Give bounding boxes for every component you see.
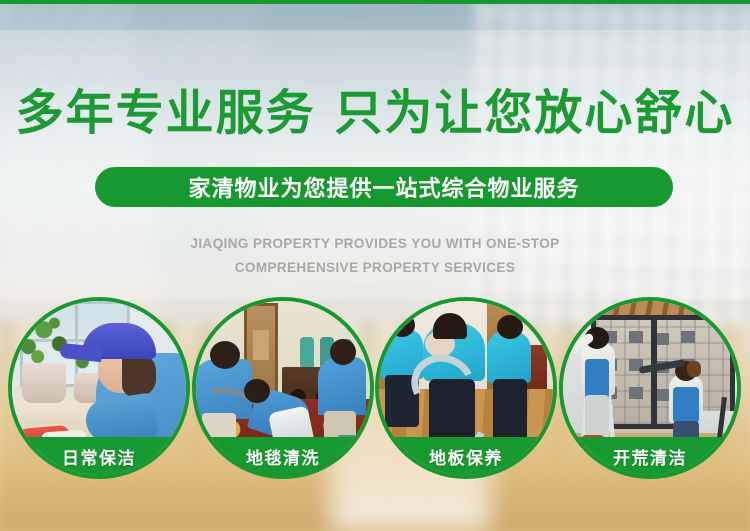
worker-a-head	[389, 313, 415, 337]
english-subtitle: JIAQING PROPERTY PROVIDES YOU WITH ONE-S…	[0, 232, 750, 280]
worker-on-ladder-apron	[585, 359, 609, 399]
flowerpot-large	[22, 363, 66, 403]
service-card-label: 地毯清洗	[246, 444, 320, 469]
service-card-label: 地板保养	[429, 444, 503, 469]
service-card-rough-cleaning[interactable]: 开荒清洁	[559, 297, 741, 479]
service-card-daily-cleaning[interactable]: 日常保洁	[8, 297, 190, 479]
service-card-label: 日常保洁	[62, 444, 136, 469]
english-subtitle-line-1: JIAQING PROPERTY PROVIDES YOU WITH ONE-S…	[0, 232, 750, 256]
subtitle-pill-label: 家清物业为您提供一站式综合物业服务	[188, 171, 579, 203]
page-title: 多年专业服务 只为让您放心舒心	[0, 86, 750, 140]
service-card-label-band: 日常保洁	[8, 437, 190, 475]
service-card-label: 开荒清洁	[613, 444, 687, 469]
worker-right-torso	[318, 357, 366, 415]
worker-b-hair	[433, 313, 467, 339]
service-card-label-band: 开荒清洁	[559, 437, 741, 475]
promo-banner: 多年专业服务 只为让您放心舒心 家清物业为您提供一站式综合物业服务 JIAQIN…	[0, 0, 750, 531]
worker-left-head	[210, 341, 240, 369]
service-card-label-band: 地毯清洗	[192, 437, 374, 475]
service-card-floor-maintenance[interactable]: 地板保养	[375, 297, 557, 479]
window-mullion	[651, 315, 657, 429]
worker-right-head	[330, 339, 356, 365]
worker-c-head	[497, 315, 523, 339]
worker-hair	[122, 353, 156, 397]
english-subtitle-line-2: COMPREHENSIVE PROPERTY SERVICES	[0, 256, 750, 280]
top-green-rule	[0, 0, 750, 4]
service-card-carpet-washing[interactable]: 地毯清洗	[192, 297, 374, 479]
water-jug	[300, 337, 314, 367]
worker-on-ladder-legs	[585, 395, 609, 439]
service-card-label-band: 地板保养	[375, 437, 557, 475]
worker-c-legs	[493, 379, 527, 441]
worker-standing-apron	[673, 387, 699, 423]
subtitle-pill: 家清物业为您提供一站式综合物业服务	[95, 167, 673, 207]
service-card-list: 日常保洁	[0, 297, 750, 487]
worker-center-head	[244, 379, 270, 403]
worker-standing-ponytail	[687, 361, 701, 377]
